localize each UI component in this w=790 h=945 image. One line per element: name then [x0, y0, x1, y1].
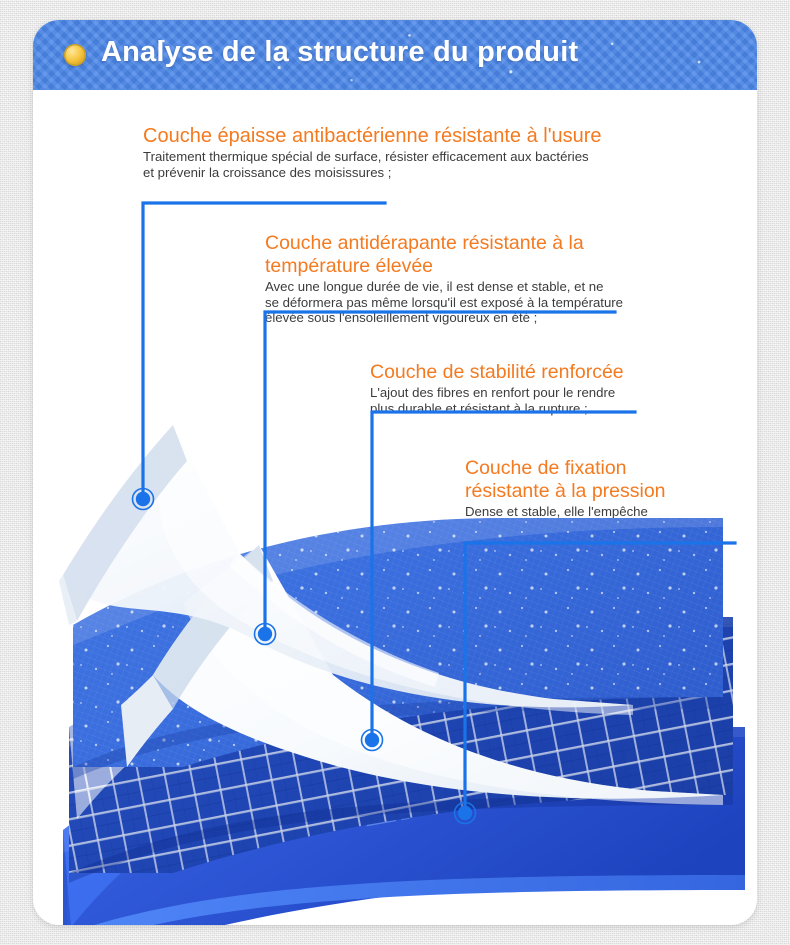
layer-text-block-1: Couche épaisse antibactérienne résistant… — [143, 125, 723, 180]
layer-body-2: Avec une longue durée de vie, il est den… — [265, 279, 735, 326]
layer-heading-1: Couche épaisse antibactérienne résistant… — [143, 125, 723, 148]
layer-text-block-2: Couche antidérapante résistante à la tem… — [265, 232, 735, 326]
content-card: Analyse de la structure du produit — [33, 20, 757, 925]
layer-body-1: Traitement thermique spécial de surface,… — [143, 149, 723, 180]
layer-heading-2: Couche antidérapante résistante à la tem… — [265, 232, 735, 278]
gold-coin-icon — [64, 44, 86, 66]
page-title: Analyse de la structure du produit — [101, 36, 578, 69]
header-banner: Analyse de la structure du produit — [33, 20, 757, 90]
product-layers-illustration: LANDY LANDY — [33, 375, 757, 925]
